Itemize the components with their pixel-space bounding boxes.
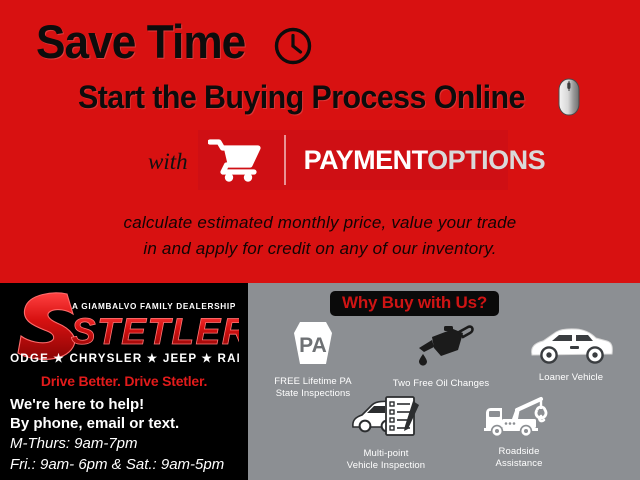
pa-keystone-icon: PA	[250, 317, 376, 373]
perk-multipoint-label-1: Multi-point	[322, 448, 450, 460]
headline-save-time: Save Time	[36, 14, 313, 69]
hero-tagline-line2: in and apply for credit on any of our in…	[0, 236, 640, 262]
car-icon	[504, 325, 638, 369]
perk-roadside-label-2: Assistance	[456, 458, 582, 470]
headline-save-time-text: Save Time	[36, 14, 245, 69]
perk-loaner-vehicle[interactable]: Loaner Vehicle	[504, 325, 638, 384]
payment-options-logo[interactable]: PAYMENTOPTIONS	[198, 130, 508, 190]
hours-line-2: By phone, email or text.	[10, 414, 248, 433]
promo-banner: Save Time Start the Buying Process Onlin…	[0, 0, 640, 480]
hero-tagline: calculate estimated monthly price, value…	[0, 210, 640, 262]
tow-truck-icon	[456, 395, 582, 443]
perk-pa-inspections[interactable]: PA FREE Lifetime PA State Inspections	[250, 317, 376, 400]
why-buy-panel: Why Buy with Us? PA FREE Lifetime PA Sta…	[248, 283, 640, 480]
dealer-panel: A GIAMBALVO FAMILY DEALERSHIP STETLER DO…	[0, 283, 248, 480]
payment-word: PAYMENT	[304, 145, 428, 175]
dealer-slogan: Drive Better. Drive Stetler.	[0, 373, 248, 389]
stetler-logo[interactable]: A GIAMBALVO FAMILY DEALERSHIP STETLER DO…	[0, 286, 248, 374]
options-word: OPTIONS	[427, 145, 545, 175]
perk-roadside-assistance[interactable]: Roadside Assistance	[456, 395, 582, 470]
perk-pa-label-1: FREE Lifetime PA	[250, 376, 376, 388]
clock-icon	[273, 22, 313, 62]
computer-mouse-icon	[558, 78, 580, 116]
headline-start-buying-text: Start the Buying Process Online	[78, 79, 525, 116]
dealer-hours: We're here to help! By phone, email or t…	[10, 395, 248, 475]
perk-multipoint-label-2: Vehicle Inspection	[322, 460, 450, 472]
perk-roadside-label-1: Roadside	[456, 446, 582, 458]
hero-section: Save Time Start the Buying Process Onlin…	[0, 0, 640, 283]
oil-can-icon	[376, 323, 506, 375]
perk-oil-label-1: Two Free Oil Changes	[376, 378, 506, 390]
hours-line-3: M-Thurs: 9am-7pm	[10, 433, 248, 454]
shopping-cart-icon	[208, 138, 262, 182]
hero-tagline-line1: calculate estimated monthly price, value…	[0, 210, 640, 236]
perks-grid: PA FREE Lifetime PA State Inspections	[248, 319, 640, 479]
payment-options-logo-row: with PAYMENTOPTIONS	[148, 130, 508, 190]
headline-start-buying: Start the Buying Process Online	[78, 78, 580, 116]
svg-text:DODGE ★ CHRYSLER ★ JEEP ★ RAM: DODGE ★ CHRYSLER ★ JEEP ★ RAM	[9, 352, 239, 365]
perk-multipoint-inspection[interactable]: Multi-point Vehicle Inspection	[322, 393, 450, 472]
hours-line-1: We're here to help!	[10, 395, 248, 414]
why-buy-heading: Why Buy with Us?	[330, 291, 499, 316]
svg-text:STETLER: STETLER	[71, 311, 239, 352]
perk-oil-changes[interactable]: Two Free Oil Changes	[376, 323, 506, 390]
perk-loaner-label-1: Loaner Vehicle	[504, 372, 638, 384]
payment-options-wordmark: PAYMENTOPTIONS	[304, 145, 546, 176]
svg-text:PA: PA	[299, 334, 327, 357]
svg-text:A GIAMBALVO FAMILY DEALERSHIP: A GIAMBALVO FAMILY DEALERSHIP	[72, 302, 236, 311]
car-checklist-icon	[322, 393, 450, 445]
with-label: with	[148, 149, 188, 175]
hours-line-4: Fri.: 9am- 6pm & Sat.: 9am-5pm	[10, 454, 248, 475]
logo-divider	[284, 135, 286, 185]
